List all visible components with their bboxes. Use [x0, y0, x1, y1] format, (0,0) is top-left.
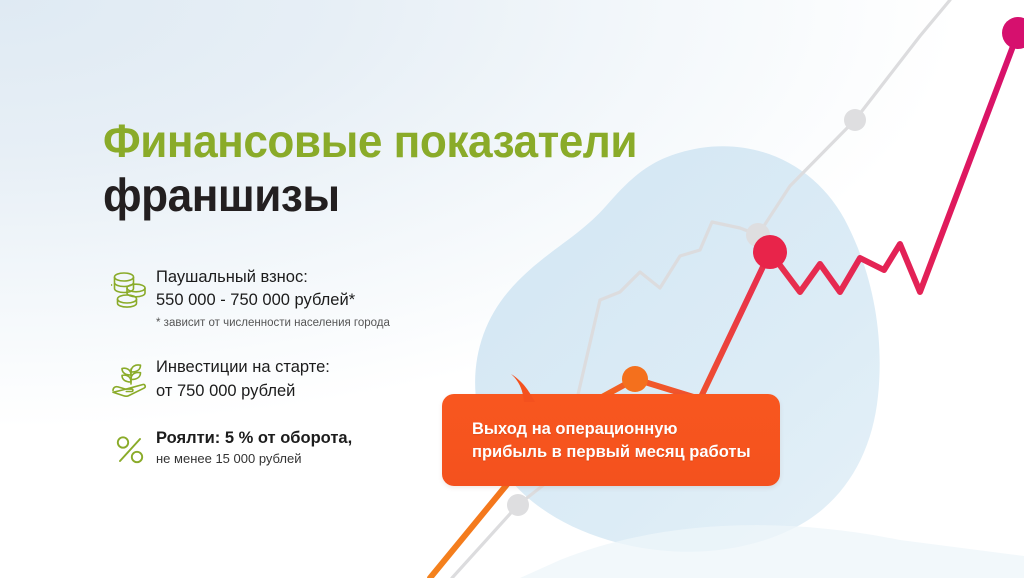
slide-canvas: Финансовые показатели франшизы Паушальны [0, 0, 1024, 578]
feature-note: * зависит от численности населения город… [156, 317, 390, 329]
feature-title: Роялти: 5 % от оборота, [156, 429, 352, 447]
list-item-text: Роялти: 5 % от оборота, не менее 15 000 … [156, 425, 352, 469]
callout-line-2: прибыль в первый месяц работы [472, 443, 751, 461]
callout-box[interactable]: Выход на операционную прибыль в первый м… [442, 394, 780, 486]
reference-marker [844, 109, 866, 131]
percent-icon [104, 425, 156, 473]
stacked-coins-icon [104, 264, 156, 312]
list-item-text: Паушальный взнос: 550 000 - 750 000 рубл… [156, 264, 390, 332]
feature-note: не менее 15 000 рублей [156, 451, 301, 466]
feature-title: Инвестиции на старте: [156, 358, 330, 376]
feature-value: 550 000 - 750 000 рублей* [156, 291, 355, 309]
title-line-secondary: франшизы [103, 172, 637, 219]
list-item-text: Инвестиции на старте: от 750 000 рублей [156, 354, 330, 403]
list-item: Паушальный взнос: 550 000 - 750 000 рубл… [104, 264, 484, 332]
reference-line [452, 0, 950, 578]
feature-title: Паушальный взнос: [156, 268, 308, 286]
callout-text: Выход на операционную прибыль в первый м… [472, 418, 751, 465]
light-wash [520, 525, 1024, 578]
growth-marker-start [622, 366, 648, 392]
list-item: Роялти: 5 % от оборота, не менее 15 000 … [104, 425, 484, 473]
reference-marker [507, 494, 529, 516]
growth-marker-mid [753, 235, 787, 269]
page-title: Финансовые показатели франшизы [103, 118, 659, 219]
feature-list: Паушальный взнос: 550 000 - 750 000 рубл… [104, 264, 484, 495]
title-line-primary: Финансовые показатели [103, 118, 637, 165]
list-item: Инвестиции на старте: от 750 000 рублей [104, 354, 484, 403]
growth-marker-end [1002, 17, 1024, 49]
reference-marker [746, 223, 770, 247]
feature-value: от 750 000 рублей [156, 382, 295, 400]
callout-line-1: Выход на операционную [472, 420, 677, 438]
hand-with-sprout-icon [104, 354, 156, 402]
